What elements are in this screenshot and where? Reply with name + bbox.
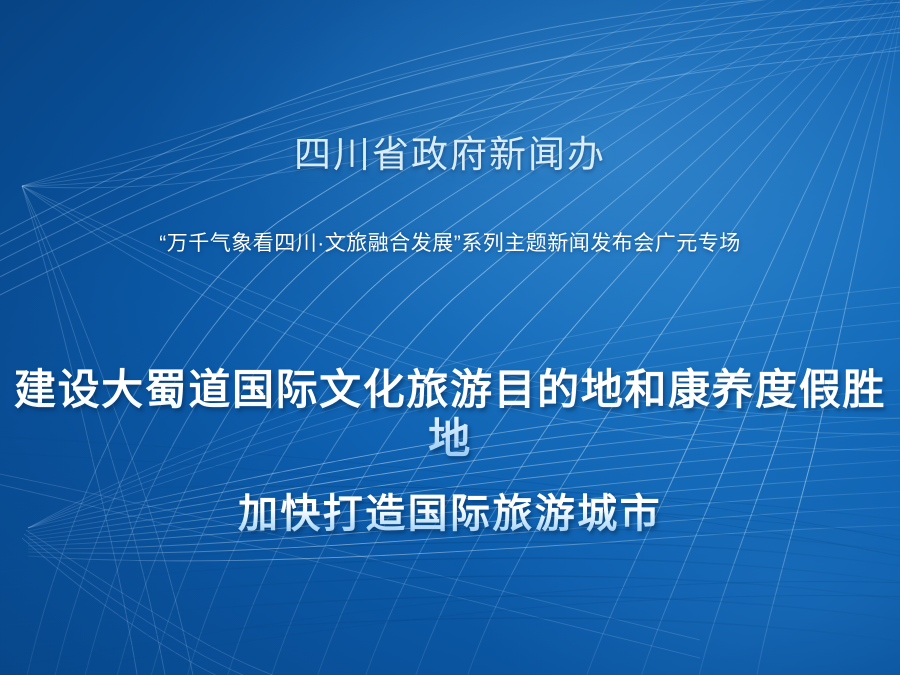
- headline-line-2: 加快打造国际旅游城市: [0, 491, 900, 537]
- headline-line-1: 建设大蜀道国际文化旅游目的地和康养度假胜地: [0, 366, 900, 463]
- organization-title: 四川省政府新闻办: [0, 132, 900, 178]
- title-text-layer: 四川省政府新闻办 “万千气象看四川·文旅融合发展”系列主题新闻发布会广元专场 建…: [0, 0, 900, 675]
- press-conference-title-card: 四川省政府新闻办 “万千气象看四川·文旅融合发展”系列主题新闻发布会广元专场 建…: [0, 0, 900, 675]
- series-subtitle: “万千气象看四川·文旅融合发展”系列主题新闻发布会广元专场: [0, 228, 900, 260]
- headline-block: 建设大蜀道国际文化旅游目的地和康养度假胜地 加快打造国际旅游城市: [0, 366, 900, 538]
